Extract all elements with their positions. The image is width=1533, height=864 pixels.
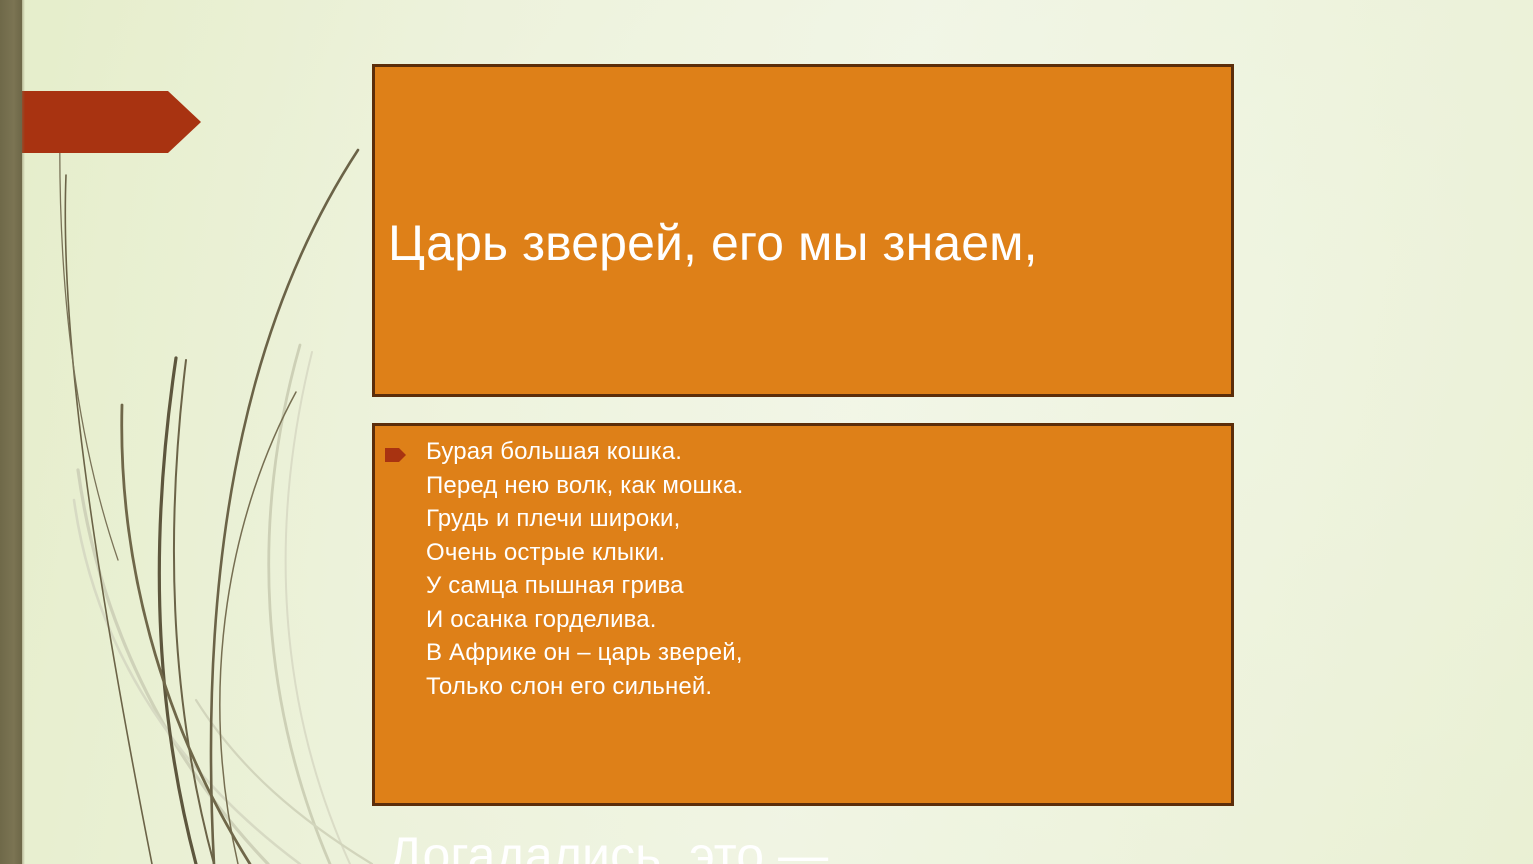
bullet-list-item: Бурая большая кошка. Перед нею волк, как…	[385, 435, 1221, 703]
body-line: И осанка горделива.	[426, 603, 1221, 637]
content-placeholder[interactable]: Бурая большая кошка. Перед нею волк, как…	[372, 423, 1234, 806]
body-line: У самца пышная грива	[426, 569, 1221, 603]
body-line: Очень острые клыки.	[426, 536, 1221, 570]
left-accent-band	[0, 0, 22, 864]
body-line: Бурая большая кошка.	[426, 435, 1221, 469]
body-line: Грудь и плечи широки,	[426, 502, 1221, 536]
title-placeholder[interactable]: Царь зверей, его мы знаем, И, конечно, у…	[372, 64, 1234, 397]
title-line: Догадались, это — …	[388, 821, 1223, 864]
title-line: Царь зверей, его мы знаем,	[388, 209, 1223, 277]
body-line: Только слон его сильней.	[426, 670, 1221, 704]
body-text: Бурая большая кошка. Перед нею волк, как…	[426, 435, 1221, 703]
arrow-banner-icon	[0, 91, 201, 153]
presentation-slide: Царь зверей, его мы знаем, И, конечно, у…	[0, 0, 1533, 864]
arrow-bullet-icon	[385, 448, 406, 462]
left-accent-band-shadow	[22, 0, 25, 864]
body-line: Перед нею волк, как мошка.	[426, 469, 1221, 503]
body-line: В Африке он – царь зверей,	[426, 636, 1221, 670]
